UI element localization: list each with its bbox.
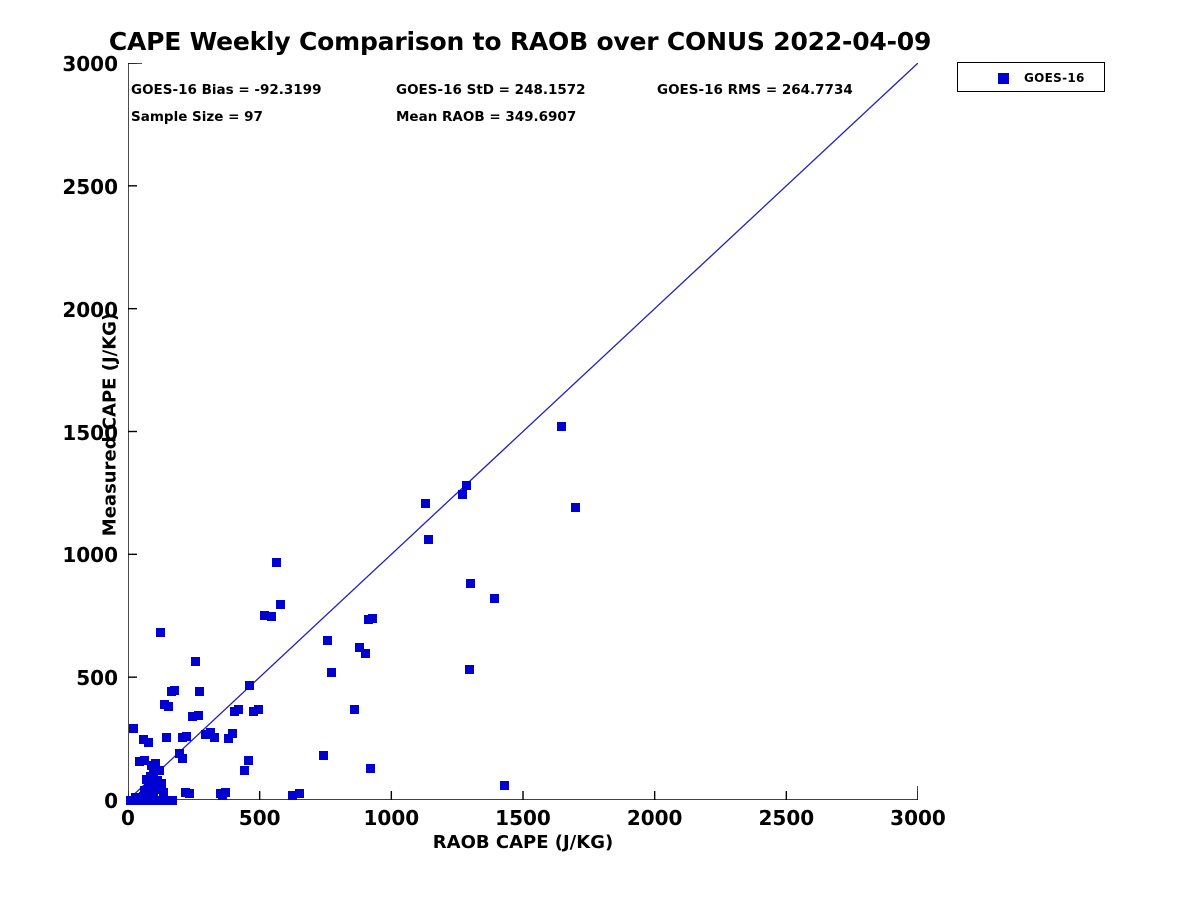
chart-figure: CAPE Weekly Comparison to RAOB over CONU… [0,0,1200,900]
x-tick-label: 500 [200,806,320,830]
x-tick-label: 1500 [463,806,583,830]
y-axis-tick-labels: 050010001500200025003000 [0,0,1200,900]
x-tick-label: 1000 [331,806,451,830]
x-tick-label: 2500 [726,806,846,830]
x-axis-label: RAOB CAPE (J/KG) [128,832,918,853]
y-axis-label: Measured CAPE (J/KG) [100,55,121,795]
x-tick-label: 3000 [858,806,978,830]
x-tick-label: 0 [68,806,188,830]
x-tick-label: 2000 [595,806,715,830]
